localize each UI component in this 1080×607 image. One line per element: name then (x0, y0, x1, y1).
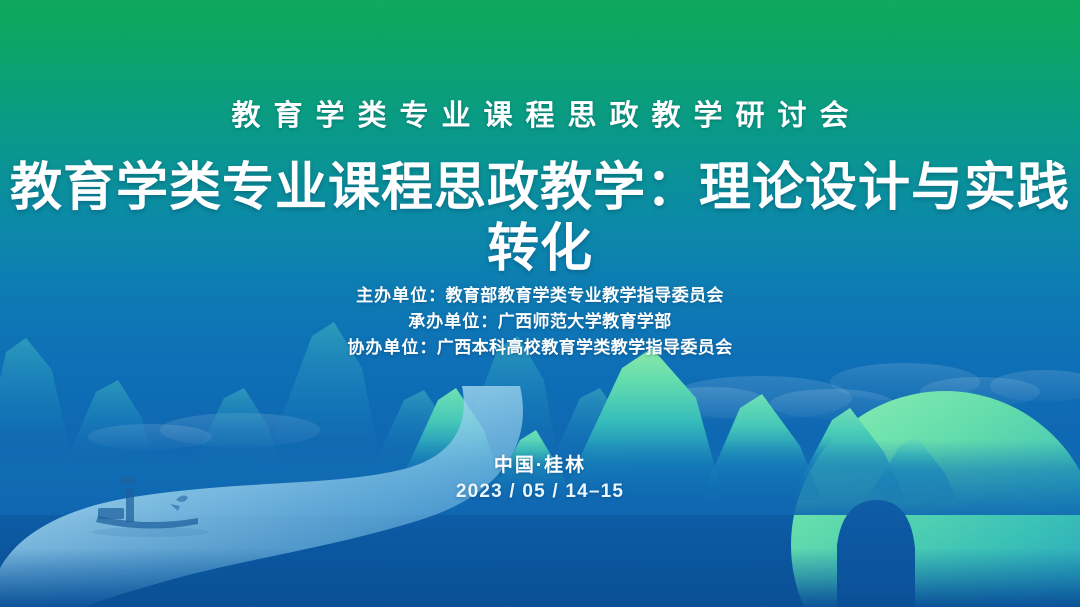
organizer-row: 主办单位：教育部教育学类专业教学指导委员会 (0, 283, 1080, 309)
organizer-row: 协办单位：广西本科高校教育学类教学指导委员会 (0, 335, 1080, 361)
event-subtitle: 教育学类专业课程思政教学研讨会 (0, 101, 1080, 133)
poster-text-block: 教育学类专业课程思政教学研讨会 教育学类专业课程思政教学：理论设计与实践转化 主… (0, 0, 1080, 607)
organizer-label: 主办单位 (356, 286, 428, 305)
organizer-separator: ： (419, 338, 436, 357)
page-title: 教育学类专业课程思政教学：理论设计与实践转化 (0, 158, 1080, 281)
organizer-separator: ： (428, 286, 445, 305)
organizer-label: 协办单位 (347, 338, 419, 357)
organizer-separator: ： (480, 312, 497, 331)
organizer-value: 广西师范大学教育学部 (498, 312, 672, 331)
organizer-value: 广西本科高校教育学类教学指导委员会 (437, 338, 733, 357)
venue-location: 中国·桂林 (0, 452, 1080, 479)
organizer-row: 承办单位：广西师范大学教育学部 (0, 309, 1080, 335)
event-date: 2023 / 05 / 14–15 (0, 479, 1080, 505)
conference-poster: 教育学类专业课程思政教学研讨会 教育学类专业课程思政教学：理论设计与实践转化 主… (0, 0, 1080, 607)
organizers-block: 主办单位：教育部教育学类专业教学指导委员会 承办单位：广西师范大学教育学部 协办… (0, 283, 1080, 361)
organizer-value: 教育部教育学类专业教学指导委员会 (446, 286, 724, 305)
venue-block: 中国·桂林 2023 / 05 / 14–15 (0, 452, 1080, 505)
organizer-label: 承办单位 (408, 312, 480, 331)
